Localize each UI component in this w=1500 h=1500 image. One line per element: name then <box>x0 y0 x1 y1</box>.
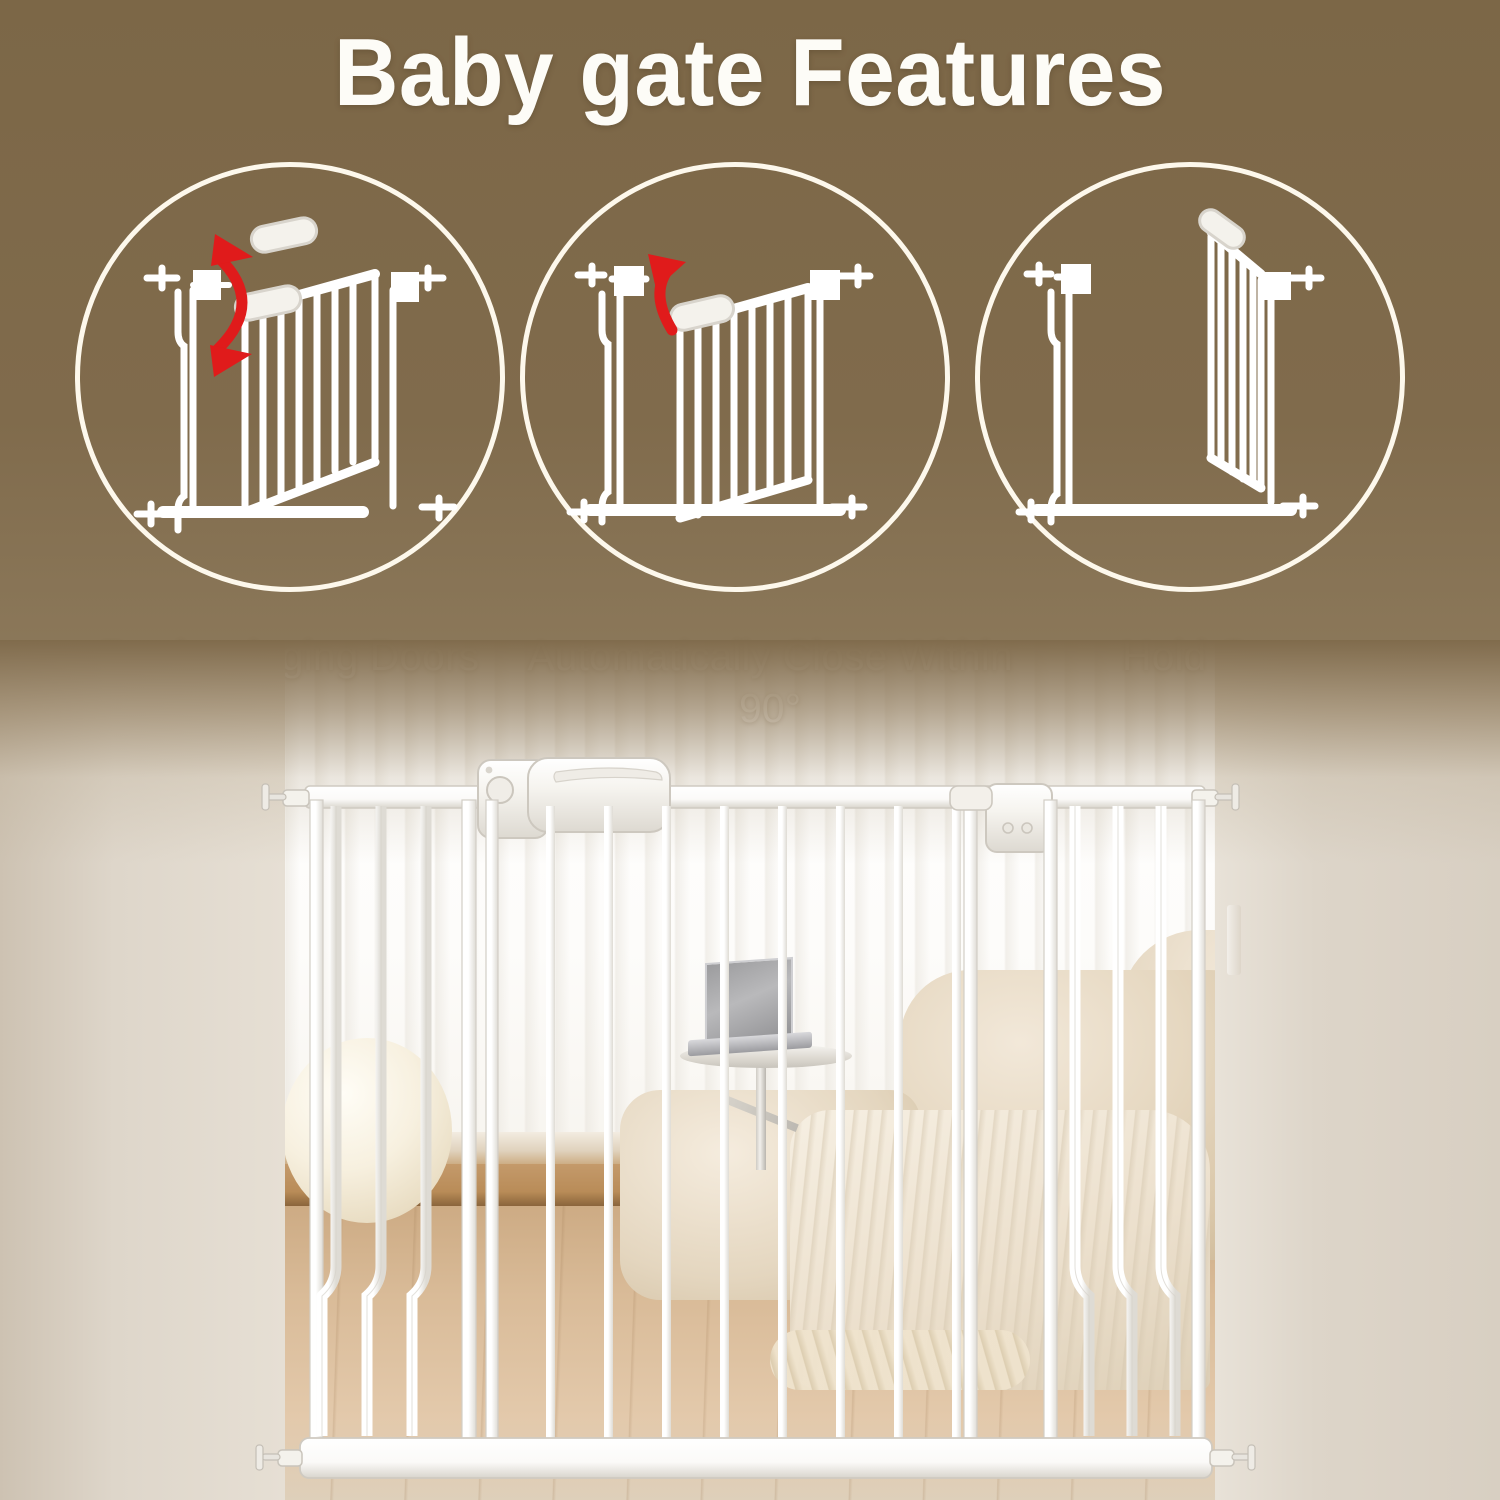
left-extension-panel <box>310 800 476 1445</box>
pressure-bolt-bottom-right[interactable] <box>1210 1445 1255 1470</box>
main-baby-gate <box>0 0 1500 1500</box>
right-extension-panel <box>1044 800 1205 1442</box>
top-rail <box>305 786 1205 808</box>
pressure-bolt-bottom-left[interactable] <box>256 1445 302 1470</box>
bottom-rail <box>300 1438 1212 1478</box>
infographic-canvas: Baby gate Features <box>0 0 1500 1500</box>
pressure-bolt-top-left[interactable] <box>262 784 309 810</box>
gate-door-panel[interactable] <box>486 800 978 1460</box>
